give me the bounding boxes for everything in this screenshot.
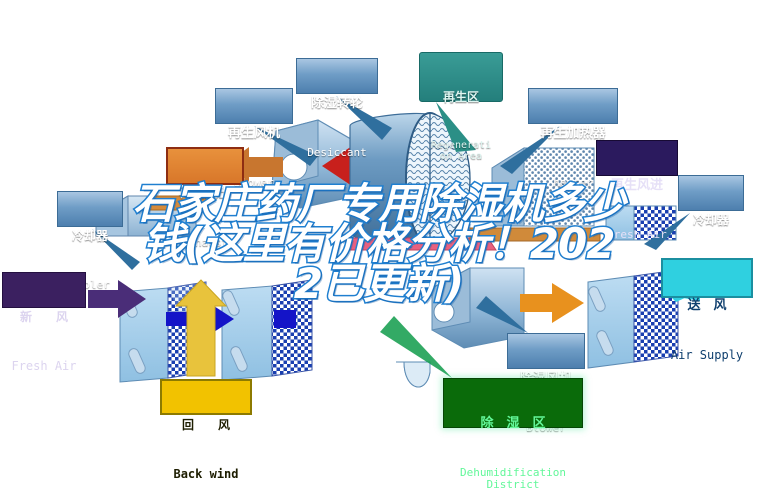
label-desiccant-rotor: 除湿转轮 Desiccant — [296, 58, 378, 94]
watermark-line-2: 钱(这里有价格分析！202 — [0, 224, 757, 264]
rotor-bottom-foot — [396, 362, 430, 387]
label-regen-fresh-air-in: 再生风进 Fresh Air — [596, 140, 678, 176]
watermark-line-3: 2已更新) — [0, 264, 757, 304]
label-regeneration-area: 再生区 Regenerati on Area — [419, 52, 503, 102]
label-dehumidification-district: 除 湿 区 Dehumidification District — [443, 378, 583, 428]
label-back-wind: 回 风 Back wind — [160, 379, 252, 415]
watermark-line-1: 石家庄药厂专用除湿机多少 — [0, 184, 757, 224]
label-regen-blower: 再生风机 Blower — [215, 88, 293, 124]
dehumidifier-diagram: 除湿转轮 Desiccant 再生风机 Blower 再生区 Regenerat… — [0, 0, 757, 488]
watermark-headline: 石家庄药厂专用除湿机多少 钱(这里有价格分析！202 2已更新) — [0, 184, 757, 304]
label-dehumid-blower: 除湿风机 Blower — [507, 333, 585, 369]
label-regen-heater: 再生加热器 heater — [528, 88, 618, 124]
